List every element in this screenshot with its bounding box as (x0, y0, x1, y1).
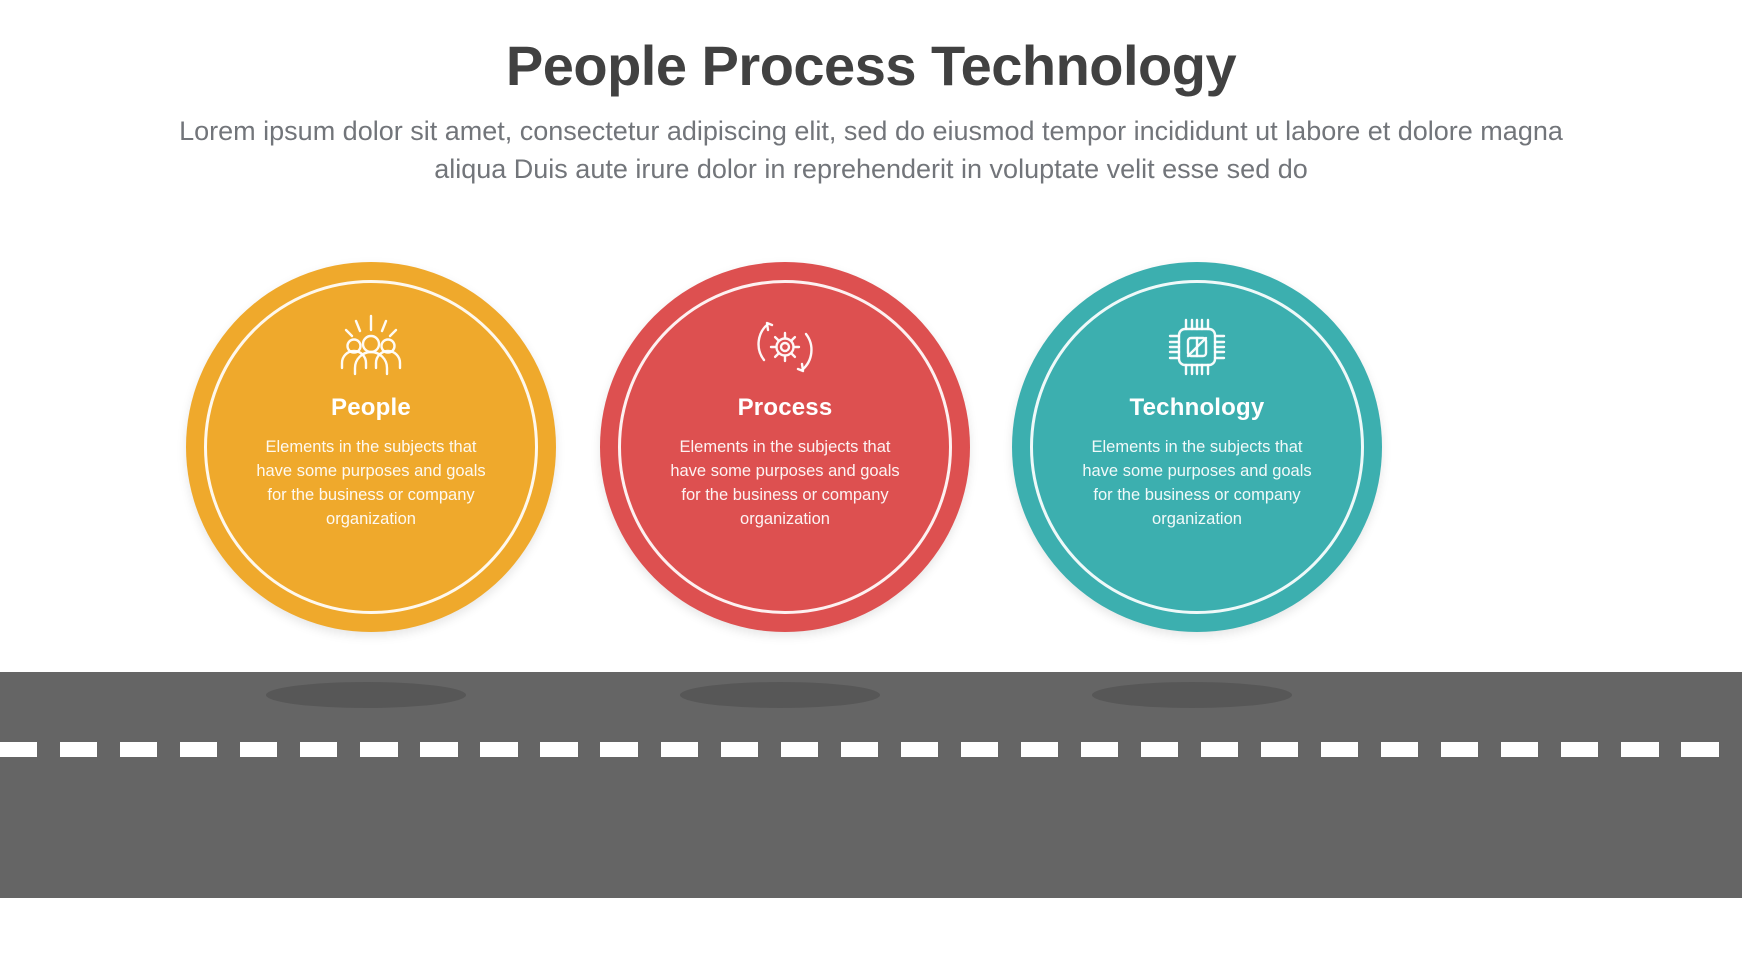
lane-dash (1381, 742, 1418, 757)
lane-dash (0, 742, 37, 757)
infographic-canvas: People Process Technology Lorem ipsum do… (0, 0, 1742, 980)
lane-dash (180, 742, 217, 757)
card-people-content: People Elements in the subjects that hav… (221, 310, 521, 532)
road (0, 672, 1742, 898)
lane-dash (1441, 742, 1478, 757)
card-technology-description: Elements in the subjects that have some … (1047, 436, 1347, 532)
lane-dash (721, 742, 758, 757)
card-people-description: Elements in the subjects that have some … (221, 436, 521, 532)
card-process[interactable]: Process Elements in the subjects that ha… (600, 262, 970, 632)
page-title: People Process Technology (0, 0, 1742, 98)
lane-dash (120, 742, 157, 757)
lane-dash (360, 742, 397, 757)
card-people-circle[interactable]: People Elements in the subjects that hav… (186, 262, 556, 632)
card-people-title: People (221, 394, 521, 422)
lane-dash (1261, 742, 1298, 757)
lane-dash (300, 742, 337, 757)
lane-dash (661, 742, 698, 757)
lane-dash (1621, 742, 1658, 757)
card-technology-title: Technology (1047, 394, 1347, 422)
gear-cycle-icon (635, 310, 935, 384)
card-process-circle[interactable]: Process Elements in the subjects that ha… (600, 262, 970, 632)
lane-dash (1141, 742, 1178, 757)
lane-dash (901, 742, 938, 757)
lane-dash (600, 742, 637, 757)
card-people[interactable]: People Elements in the subjects that hav… (186, 262, 556, 632)
lane-dash (961, 742, 998, 757)
lane-dash (1321, 742, 1358, 757)
lane-dash (1561, 742, 1598, 757)
lane-dash (540, 742, 577, 757)
card-process-description: Elements in the subjects that have some … (635, 436, 935, 532)
card-technology-content: Technology Elements in the subjects that… (1047, 310, 1347, 532)
circle-ground-shadow (1092, 682, 1292, 708)
page-subtitle: Lorem ipsum dolor sit amet, consectetur … (171, 112, 1571, 189)
lane-dash (420, 742, 457, 757)
cpu-chip-icon (1047, 310, 1347, 384)
people-group-icon (221, 310, 521, 384)
lane-dash (1081, 742, 1118, 757)
lane-markings (0, 740, 1742, 758)
header: People Process Technology Lorem ipsum do… (0, 0, 1742, 188)
card-technology-circle[interactable]: Technology Elements in the subjects that… (1012, 262, 1382, 632)
circle-ground-shadow (680, 682, 880, 708)
cards-row: People Elements in the subjects that hav… (0, 262, 1742, 642)
lane-dash (1501, 742, 1538, 757)
lane-dash (480, 742, 517, 757)
lane-dash (1021, 742, 1058, 757)
card-process-content: Process Elements in the subjects that ha… (635, 310, 935, 532)
card-technology[interactable]: Technology Elements in the subjects that… (1012, 262, 1382, 632)
circle-ground-shadow (266, 682, 466, 708)
lane-dash (60, 742, 97, 757)
lane-dash (240, 742, 277, 757)
lane-dash (841, 742, 878, 757)
card-process-title: Process (635, 394, 935, 422)
lane-dash (1201, 742, 1238, 757)
lane-dash (781, 742, 818, 757)
lane-dash (1681, 742, 1718, 757)
